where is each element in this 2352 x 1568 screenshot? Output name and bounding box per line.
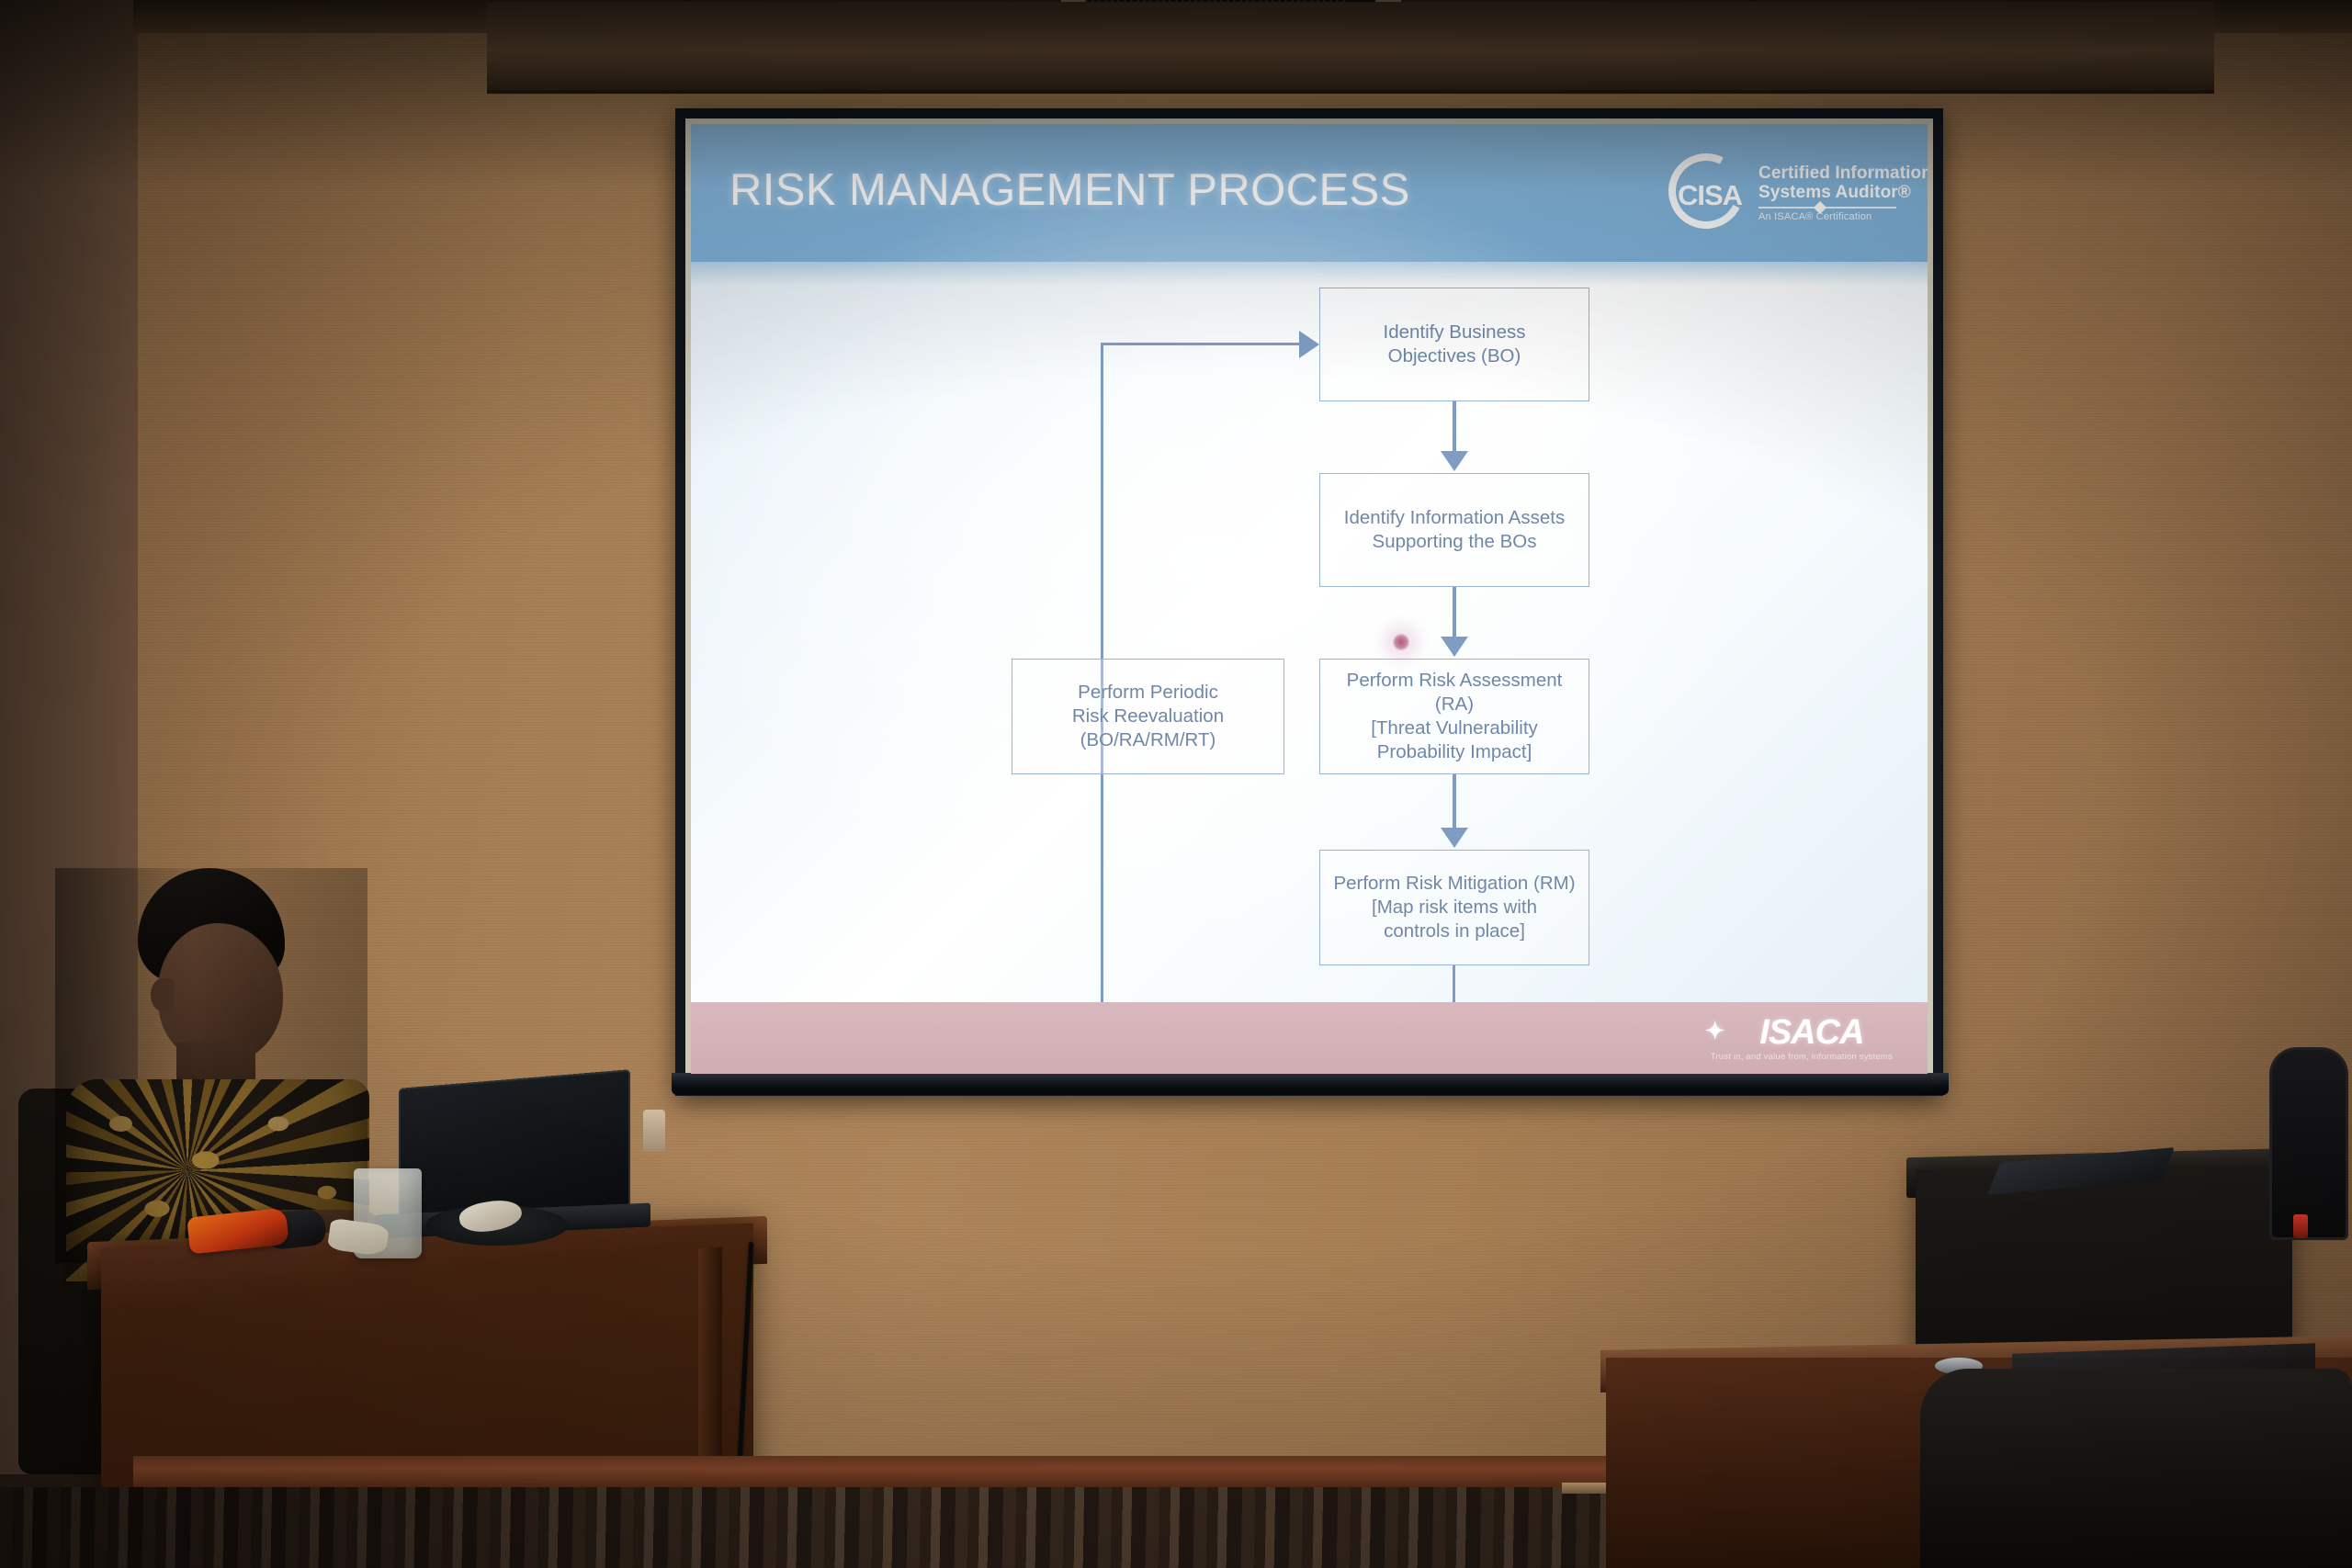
cisa-logo: CISA Certified Information Systems Audit… (1665, 144, 1902, 243)
node-perform-risk-assessment[interactable]: Perform Risk Assessment (RA) [Threat Vul… (1319, 659, 1589, 774)
arrowhead-bo-ia (1441, 451, 1468, 471)
cisa-logo-text: Certified Information Systems Auditor® A… (1758, 164, 1928, 223)
risk-management-flowchart: Identify Business Objectives (BO) Identi… (691, 262, 1928, 1002)
connector-ra-rm (1453, 774, 1456, 831)
cisa-subline: An ISACA® Certification (1758, 212, 1928, 223)
laser-pointer-dot (1391, 632, 1411, 652)
slide-title: RISK MANAGEMENT PROCESS (729, 164, 1410, 216)
laptop-screen[interactable] (399, 1069, 630, 1218)
connector-ia-ra (1453, 587, 1456, 638)
isaca-wordmark: ISACA (1711, 1013, 1893, 1053)
node-perform-periodic-risk-reevaluation[interactable]: Perform Periodic Risk Reevaluation (BO/R… (1012, 659, 1284, 774)
node-ia-line-2: Supporting the BOs (1344, 530, 1565, 554)
arrowhead-loop-to-bo (1299, 331, 1319, 358)
isaca-tagline: Trust in, and value from, information sy… (1711, 1052, 1893, 1062)
cisa-divider (1758, 207, 1896, 209)
node-ra-line-1: Perform Risk Assessment (RA) (1328, 669, 1581, 716)
arrowhead-ra-rm (1441, 828, 1468, 848)
screen-bottom-bar (672, 1073, 1949, 1095)
loudspeaker (2269, 1047, 2348, 1240)
cisa-wordmark: CISA (1678, 179, 1742, 212)
node-perform-risk-mitigation[interactable]: Perform Risk Mitigation (RM) [Map risk i… (1319, 850, 1589, 965)
cisa-ring-icon: CISA (1665, 152, 1749, 236)
slide-footer-band: ISACA Trust in, and value from, informat… (691, 1002, 1928, 1074)
connector-loop-top (1101, 343, 1301, 345)
node-bo-line-1: Identify Business (1384, 321, 1526, 344)
chair-right-body[interactable] (1920, 1369, 2352, 1568)
screen-housing (487, 2, 2214, 94)
wall-light-switch[interactable] (643, 1110, 665, 1152)
arrowhead-ia-ra (1441, 637, 1468, 657)
isaca-logo: ISACA Trust in, and value from, informat… (1711, 1013, 1893, 1062)
presenter-person (55, 868, 367, 1263)
cisa-line-2: Systems Auditor® (1758, 184, 1928, 203)
node-rm-line-3: controls in place] (1333, 919, 1575, 943)
presentation-slide[interactable]: RISK MANAGEMENT PROCESS CISA Certified I… (691, 124, 1928, 1074)
speaker-power-led (2293, 1214, 2308, 1238)
node-identify-business-objectives[interactable]: Identify Business Objectives (BO) (1319, 288, 1589, 401)
node-pp-line-1: Perform Periodic (1072, 681, 1224, 705)
node-pp-line-3: (BO/RA/RM/RT) (1072, 728, 1224, 752)
node-ia-line-1: Identify Information Assets (1344, 506, 1565, 530)
node-rm-line-1: Perform Risk Mitigation (RM) (1333, 872, 1575, 896)
node-ra-line-3: Probability Impact] (1328, 740, 1581, 764)
cisa-line-1: Certified Information (1758, 164, 1928, 184)
node-ra-line-2: [Threat Vulnerability (1328, 716, 1581, 740)
node-bo-line-2: Objectives (BO) (1384, 344, 1526, 368)
node-rm-line-2: [Map risk items with (1333, 896, 1575, 919)
node-identify-information-assets[interactable]: Identify Information Assets Supporting t… (1319, 473, 1589, 587)
conference-room-scene: RISK MANAGEMENT PROCESS CISA Certified I… (0, 0, 2352, 1568)
connector-bo-ia (1453, 401, 1456, 453)
node-pp-line-2: Risk Reevaluation (1072, 705, 1224, 728)
person-ear (151, 978, 175, 1011)
